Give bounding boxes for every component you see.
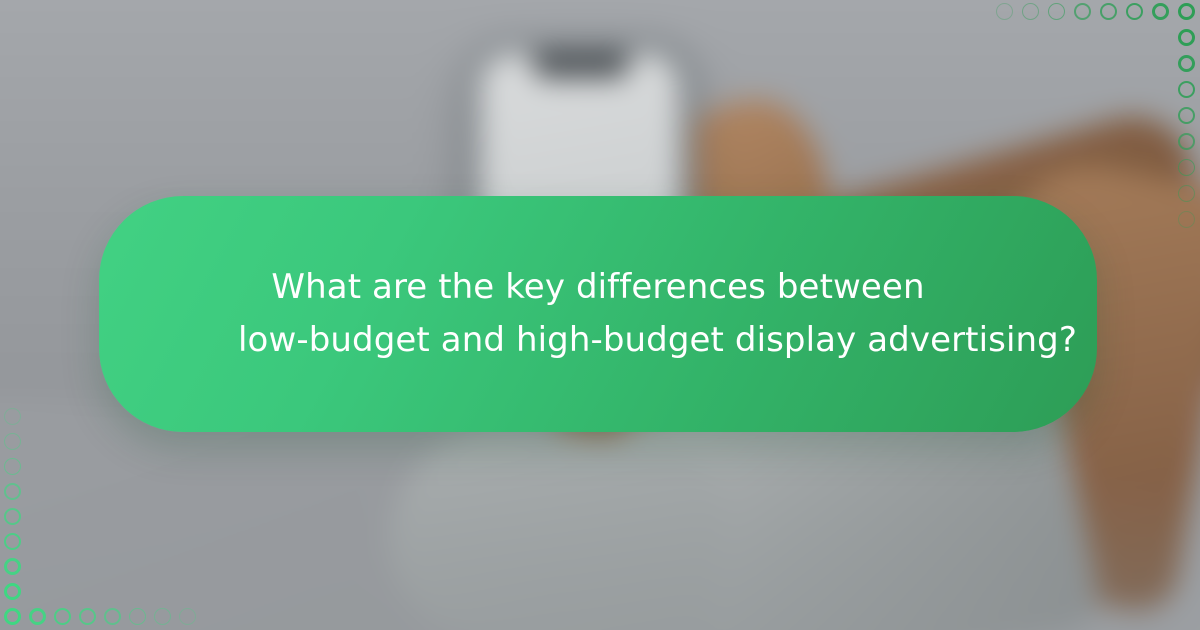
smartphone-notch [533,52,629,78]
decorative-dot [1178,55,1195,72]
decorative-dots-bottom-left [0,415,210,630]
decorative-dots-top-right [990,0,1200,215]
decorative-dot [1178,211,1195,228]
decorative-dot [1178,185,1195,202]
decorative-dot [4,608,21,625]
decorative-dot [4,458,21,475]
decorative-dot [104,608,121,625]
decorative-dot [4,483,21,500]
social-card-canvas: What are the key differences between low… [0,0,1200,630]
decorative-dot [129,608,146,625]
decorative-dot [179,608,196,625]
decorative-dot [29,608,46,625]
decorative-dot [154,608,171,625]
question-card: What are the key differences between low… [99,196,1097,432]
question-line-1: What are the key differences between [238,261,958,314]
decorative-dot [996,3,1013,20]
decorative-dot [1178,107,1195,124]
question-line-2: low-budget and high-budget display adver… [238,314,958,367]
decorative-dot [4,433,21,450]
decorative-dot [1178,133,1195,150]
question-text: What are the key differences between low… [238,261,958,367]
decorative-dot [4,508,21,525]
decorative-dot [1178,81,1195,98]
decorative-dot [54,608,71,625]
decorative-dot [1048,3,1065,20]
decorative-dot [1178,29,1195,46]
decorative-dot [4,533,21,550]
decorative-dot [1100,3,1117,20]
decorative-dot [1074,3,1091,20]
decorative-dot [1178,159,1195,176]
decorative-dot [1152,3,1169,20]
decorative-dot [1178,3,1195,20]
decorative-dot [1126,3,1143,20]
decorative-dot [4,583,21,600]
decorative-dot [4,408,21,425]
decorative-dot [1022,3,1039,20]
decorative-dot [79,608,96,625]
decorative-dot [4,558,21,575]
